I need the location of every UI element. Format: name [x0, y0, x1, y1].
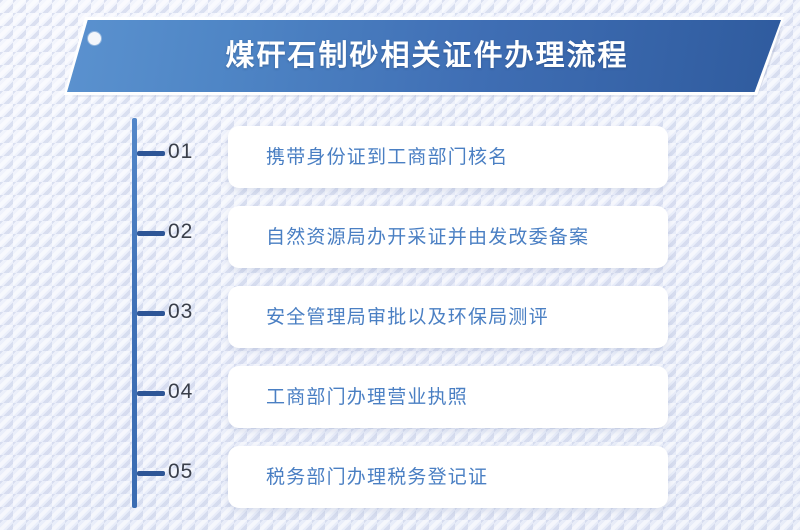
timeline-tick-icon [137, 151, 165, 156]
step-number: 04 [168, 376, 214, 408]
step-card[interactable]: 安全管理局审批以及环保局测评 [228, 286, 668, 348]
step-number: 03 [168, 296, 214, 328]
step-label: 携带身份证到工商部门核名 [228, 148, 508, 167]
step-number: 05 [168, 456, 214, 488]
step-label: 自然资源局办开采证并由发改委备案 [228, 228, 589, 247]
timeline-tick-icon [137, 391, 165, 396]
step-number: 01 [168, 136, 214, 168]
step-card[interactable]: 税务部门办理税务登记证 [228, 446, 668, 508]
timeline-tick-icon [137, 231, 165, 236]
infographic-page: 煤矸石制砂相关证件办理流程 01 携带身份证到工商部门核名 02 自然资源局办开… [0, 0, 800, 530]
page-title: 煤矸石制砂相关证件办理流程 [219, 42, 628, 71]
step-number: 02 [168, 216, 214, 248]
process-timeline: 01 携带身份证到工商部门核名 02 自然资源局办开采证并由发改委备案 03 安… [0, 112, 800, 522]
timeline-step[interactable]: 03 安全管理局审批以及环保局测评 [0, 274, 800, 354]
step-card[interactable]: 自然资源局办开采证并由发改委备案 [228, 206, 668, 268]
step-label: 工商部门办理营业执照 [228, 388, 468, 407]
step-card[interactable]: 携带身份证到工商部门核名 [228, 126, 668, 188]
circle-dot-icon [88, 32, 101, 45]
title-banner: 煤矸石制砂相关证件办理流程 [64, 17, 784, 97]
timeline-step[interactable]: 01 携带身份证到工商部门核名 [0, 114, 800, 194]
timeline-step[interactable]: 02 自然资源局办开采证并由发改委备案 [0, 194, 800, 274]
timeline-tick-icon [137, 311, 165, 316]
timeline-step[interactable]: 05 税务部门办理税务登记证 [0, 434, 800, 514]
step-label: 安全管理局审批以及环保局测评 [228, 308, 549, 327]
step-label: 税务部门办理税务登记证 [228, 468, 488, 487]
timeline-step[interactable]: 04 工商部门办理营业执照 [0, 354, 800, 434]
step-card[interactable]: 工商部门办理营业执照 [228, 366, 668, 428]
banner-body: 煤矸石制砂相关证件办理流程 [67, 20, 781, 92]
timeline-tick-icon [137, 471, 165, 476]
